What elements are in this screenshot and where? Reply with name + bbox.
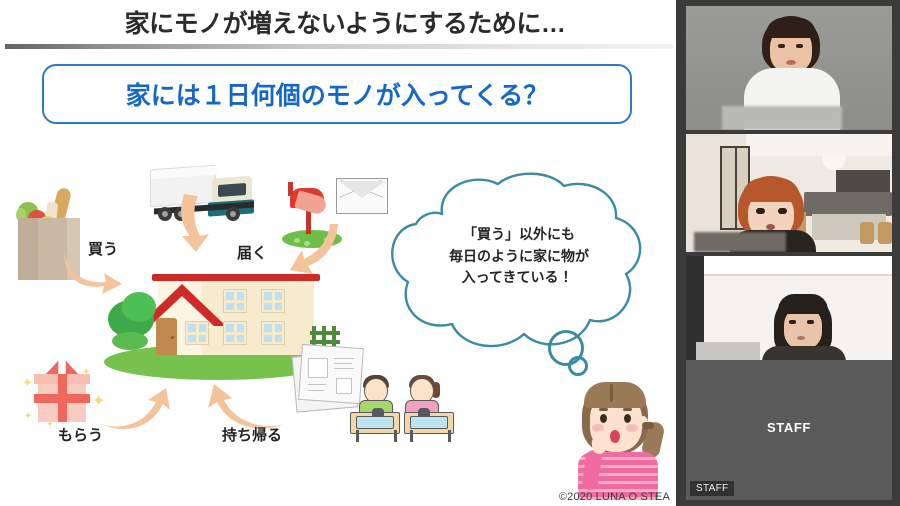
tile-3-name-badge: STAFF: [690, 481, 734, 496]
question-text: 家には１日何個のモノが入ってくる？: [126, 76, 549, 112]
title-divider: [5, 44, 673, 49]
students-at-desks-icon: [348, 372, 460, 446]
label-bring-home: 持ち帰る: [222, 424, 282, 445]
arrow-mail-to-house: [286, 220, 344, 280]
participant-tile-1[interactable]: [686, 6, 892, 130]
thought-bubble-text: 「買う」以外にも 毎日のように家に物が 入ってきている ！: [416, 224, 622, 289]
cycle-diagram: ✦✦ ✦✦✦: [0, 130, 676, 506]
label-buy: 買う: [88, 238, 118, 259]
arrow-receive-to-house: [100, 380, 172, 432]
arrow-deliver-to-house: [176, 192, 216, 254]
label-deliver: 届く: [237, 242, 267, 263]
gift-box-icon: ✦✦ ✦✦✦: [20, 356, 100, 426]
slide-header: 家にモノが増えないようにするために…: [0, 0, 676, 44]
presentation-slide: 家にモノが増えないようにするために… 家には１日何個のモノが入ってくる？: [0, 0, 676, 506]
screen-share-view: 家にモノが増えないようにするために… 家には１日何個のモノが入ってくる？: [0, 0, 900, 506]
envelope-icon: [336, 178, 388, 214]
participant-video-panel: STAFF STAFF: [676, 0, 900, 506]
thought-bubble: 「買う」以外にも 毎日のように家に物が 入ってきている ！: [382, 170, 654, 370]
arrow-bringhome-to-house: [204, 378, 288, 430]
participant-tile-3[interactable]: STAFF STAFF: [686, 256, 892, 500]
question-callout-box: 家には１日何個のモノが入ってくる？: [42, 64, 632, 124]
thought-bubble-tail-small: [568, 356, 588, 376]
bubble-line-1: 「買う」以外にも: [416, 224, 622, 246]
bubble-line-2: 毎日のように家に物が: [416, 246, 622, 268]
tile-3-webcam-image: [686, 256, 892, 360]
label-receive: もらう: [58, 424, 103, 445]
bubble-line-3: 入ってきている ！: [416, 267, 622, 289]
participant-tile-2[interactable]: [686, 134, 892, 252]
copyright-text: ©2020 LUNA O STEA: [559, 491, 670, 503]
page-title: 家にモノが増えないようにするために…: [111, 4, 566, 40]
tile-3-center-label: STAFF: [686, 420, 892, 435]
thinking-woman-icon: [566, 378, 670, 498]
